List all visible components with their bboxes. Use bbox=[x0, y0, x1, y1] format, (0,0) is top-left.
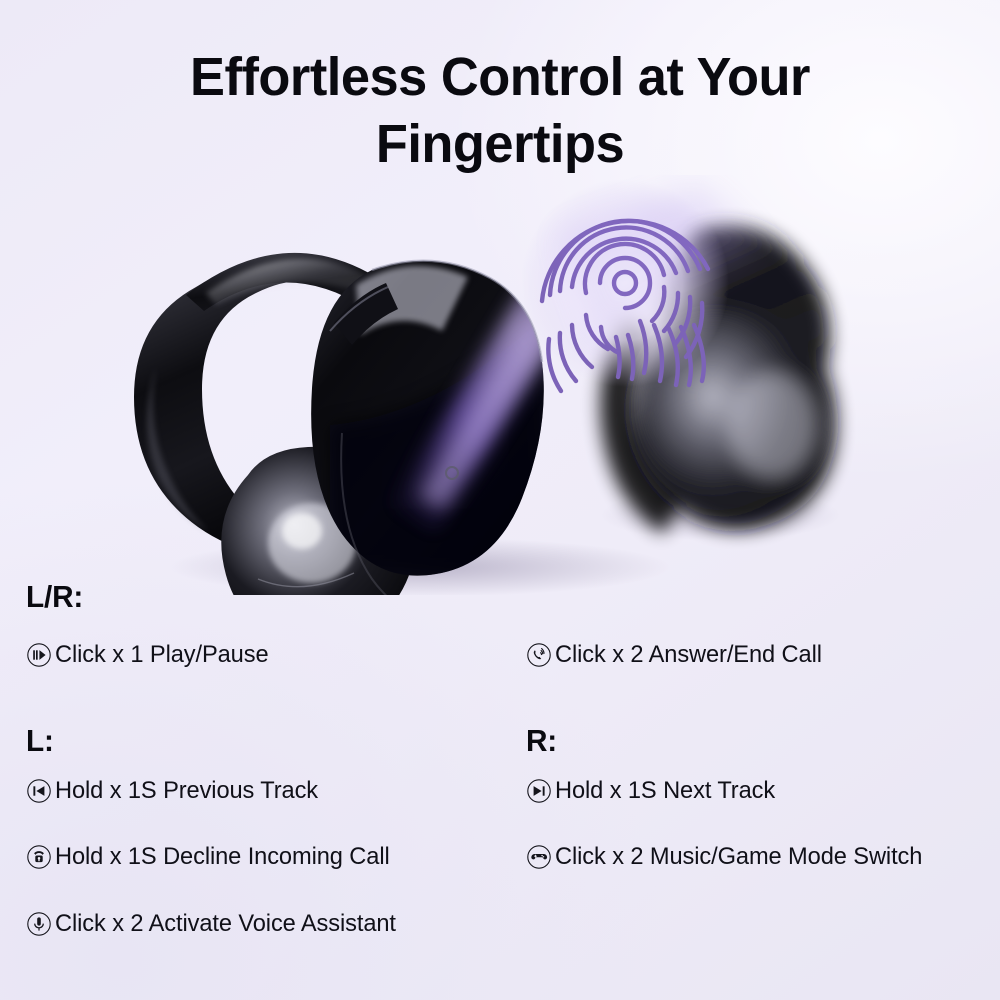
control-row-previous-track: Hold x 1S Previous Track bbox=[26, 777, 322, 805]
group-heading-lr: L/R: bbox=[26, 581, 83, 612]
control-label: Click x 1 Play/Pause bbox=[55, 641, 269, 669]
control-label: Click x 2 Music/Game Mode Switch bbox=[555, 843, 922, 871]
next-track-icon bbox=[526, 778, 552, 804]
control-row-play-pause: Click x 1 Play/Pause bbox=[26, 641, 272, 669]
microphone-icon bbox=[26, 911, 52, 937]
page-title-line-2: Fingertips bbox=[15, 117, 985, 172]
control-row-game-mode: Click x 2 Music/Game Mode Switch bbox=[526, 843, 928, 871]
control-label: Hold x 1S Previous Track bbox=[55, 777, 318, 805]
product-image bbox=[0, 175, 1000, 595]
control-row-voice-assistant: Click x 2 Activate Voice Assistant bbox=[26, 910, 401, 938]
control-row-decline-call: Hold x 1S Decline Incoming Call bbox=[26, 843, 395, 871]
controls-section: L/R: Click x 1 Play/Pause L: bbox=[0, 565, 1000, 1000]
control-label: Hold x 1S Next Track bbox=[555, 777, 775, 805]
group-heading-l: L: bbox=[26, 725, 54, 756]
decline-call-icon bbox=[26, 844, 52, 870]
product-feature-card: Effortless Control at Your Fingertips bbox=[0, 0, 1000, 1000]
previous-track-icon bbox=[26, 778, 52, 804]
control-label: Click x 2 Activate Voice Assistant bbox=[55, 910, 396, 938]
gamepad-icon bbox=[526, 844, 552, 870]
control-row-next-track: Hold x 1S Next Track bbox=[526, 777, 778, 805]
page-title-line-1: Effortless Control at Your bbox=[15, 50, 985, 105]
control-label: Hold x 1S Decline Incoming Call bbox=[55, 843, 390, 871]
play-pause-icon bbox=[26, 642, 52, 668]
control-label: Click x 2 Answer/End Call bbox=[555, 641, 822, 669]
group-heading-r: R: bbox=[526, 725, 557, 756]
control-row-answer-call: Click x 2 Answer/End Call bbox=[526, 641, 826, 669]
answer-call-icon bbox=[526, 642, 552, 668]
page-title: Effortless Control at Your Fingertips bbox=[0, 50, 1000, 172]
